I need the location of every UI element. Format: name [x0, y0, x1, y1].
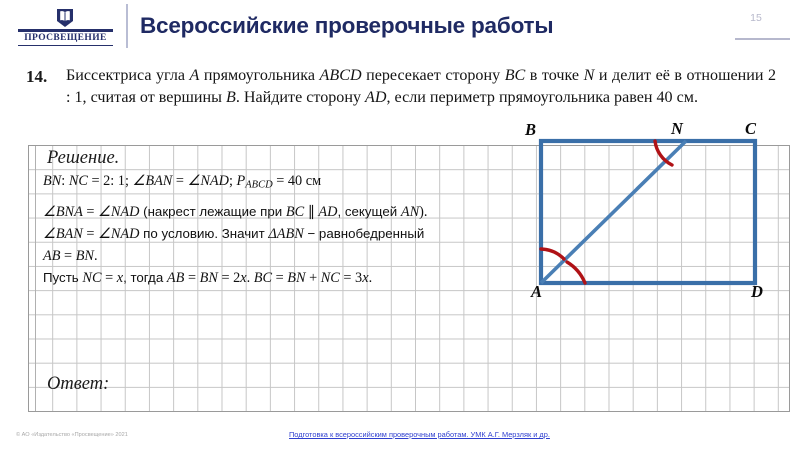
math-var-AB: AB — [43, 248, 60, 264]
page-number: 15 — [742, 12, 770, 24]
problem-text-frag: Биссектриса угла — [66, 67, 190, 84]
logo-rule-top — [18, 29, 113, 32]
math-var-P: P — [237, 173, 246, 189]
math-var-N: N — [584, 67, 595, 84]
math-op: : — [61, 173, 69, 189]
math-var-BN: BN — [76, 248, 94, 264]
math-var-NC: NC — [82, 270, 101, 286]
math-op: = — [83, 204, 98, 220]
solution-text-frag: Пусть — [43, 270, 82, 285]
problem-text-frag: и делит — [594, 67, 651, 84]
solution-heading: Решение. — [47, 148, 119, 169]
math-var-AN: AN — [401, 204, 419, 220]
math-angle-ban: ∠BAN — [43, 226, 83, 242]
problem-text-frag: в точке — [525, 67, 583, 84]
solution-text-frag: , секущей — [337, 204, 400, 219]
math-value-perimeter: = 40 см — [273, 173, 321, 189]
slide-header: ПРОСВЕЩЕНИЕ Всероссийские проверочные ра… — [0, 0, 800, 58]
solution-text-frag: по условию. Значит — [139, 226, 268, 241]
math-subscript-abcd: ABCD — [245, 179, 272, 190]
solution-text-frag: (накрест лежащие при — [139, 204, 285, 219]
solution-line-1: BN: NC = 2: 1; ∠BAN = ∠NAD; PABCD = 40 с… — [43, 173, 321, 190]
math-op: + — [306, 270, 321, 286]
math-op: = 2: 1; — [88, 173, 133, 189]
vertex-label-a: A — [531, 282, 542, 302]
vertex-label-c: C — [745, 119, 756, 139]
resource-link[interactable]: Подготовка к всероссийским проверочным р… — [289, 430, 550, 439]
problem-text-frag: пересекает сторону — [362, 67, 505, 84]
problem-text-frag: . Найдите сторону — [236, 89, 365, 106]
math-var-BC: BC — [286, 204, 304, 220]
math-var-AB: AB — [167, 270, 184, 286]
math-op: = — [172, 173, 187, 189]
math-var-BN: BN — [287, 270, 305, 286]
math-op: = — [272, 270, 287, 286]
math-var-NC: NC — [69, 173, 88, 189]
math-var-B: B — [226, 89, 236, 106]
math-var-BC: BC — [254, 270, 272, 286]
math-var-AD: AD — [365, 89, 386, 106]
header-divider — [126, 4, 128, 48]
math-var-ABCD: ABCD — [320, 67, 362, 84]
problem-text-frag: прямоугольника равен 40 см. — [499, 89, 698, 106]
rectangle-abcd — [541, 141, 755, 283]
math-parallel-symbol: ∥ — [304, 204, 318, 220]
logo-rule-bottom — [18, 45, 113, 46]
math-var-BN: BN — [200, 270, 218, 286]
copyright-notice: © АО «Издательство «Просвещение» 2021 — [16, 432, 128, 438]
logo-wordmark: ПРОСВЕЩЕНИЕ — [18, 33, 113, 43]
page-title: Всероссийские проверочные работы — [140, 13, 553, 39]
vertex-label-n: N — [671, 119, 683, 139]
math-op: . — [247, 270, 254, 286]
solution-text-frag: , тогда — [123, 270, 167, 285]
math-angle-nad: ∠NAD — [98, 204, 139, 220]
angle-arc-ban — [541, 249, 564, 259]
solution-line-4: AB = BN. — [43, 248, 98, 265]
math-var-AD: AD — [318, 204, 337, 220]
math-angle-nad: ∠NAD — [188, 173, 229, 189]
problem-body: Биссектриса угла A прямоугольника ABCD п… — [66, 65, 776, 108]
math-op: = 2 — [218, 270, 240, 286]
math-var-NC: NC — [321, 270, 340, 286]
math-var-BC: BC — [505, 67, 526, 84]
math-op: = — [184, 270, 199, 286]
vertex-label-d: D — [751, 282, 763, 302]
solution-text-frag: ). — [419, 204, 427, 220]
solution-text-frag: − равнобедренный — [304, 226, 425, 241]
page-number-rule — [735, 38, 790, 40]
math-angle-bna: ∠BNA — [43, 204, 83, 220]
math-var-A: A — [190, 67, 200, 84]
math-op: . — [94, 248, 98, 264]
problem-text-frag: прямоугольника — [199, 67, 319, 84]
solution-line-3: ∠BAN = ∠NAD по условию. Значит ΔABN − ра… — [43, 226, 424, 243]
solution-line-5: Пусть NC = x, тогда AB = BN = 2x. BC = B… — [43, 270, 372, 287]
prosveshchenie-logo: ПРОСВЕЩЕНИЕ — [18, 8, 113, 50]
math-triangle-abn: ΔABN — [268, 226, 303, 242]
math-op: . — [369, 270, 373, 286]
vertex-label-b: B — [525, 120, 536, 140]
slide-footer: © АО «Издательство «Просвещение» 2021 По… — [0, 428, 800, 450]
math-angle-nad: ∠NAD — [98, 226, 139, 242]
answer-label: Ответ: — [47, 374, 109, 395]
solution-line-2: ∠BNA = ∠NAD (накрест лежащие при BC ∥ AD… — [43, 204, 427, 221]
math-var-BN: BN — [43, 173, 61, 189]
geometry-figure: B N C A D — [505, 118, 800, 313]
bisector-segment-an — [541, 141, 686, 283]
problem-number: 14. — [26, 67, 47, 87]
angle-arc-nad — [567, 262, 585, 283]
math-op: = — [83, 226, 98, 242]
math-op: ; — [229, 173, 237, 189]
math-op: = — [60, 248, 75, 264]
math-op: = 3 — [340, 270, 362, 286]
math-op: = — [102, 270, 117, 286]
problem-text-frag: , если периметр — [386, 89, 494, 106]
math-angle-ban: ∠BAN — [133, 173, 173, 189]
open-book-shield-icon — [56, 8, 74, 28]
